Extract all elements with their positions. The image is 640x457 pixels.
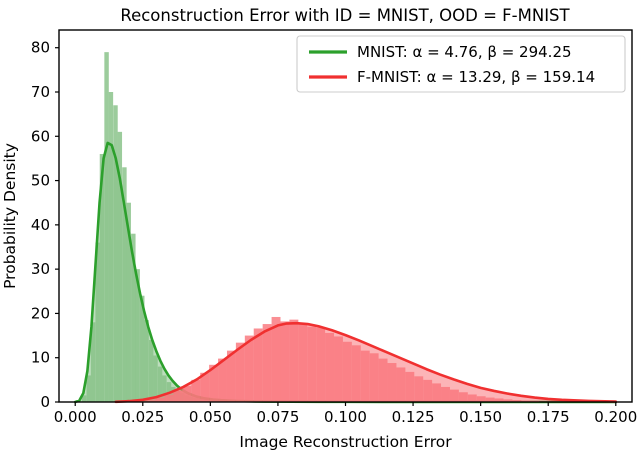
y-tick-label: 70	[31, 83, 50, 101]
x-axis-title: Image Reconstruction Error	[239, 433, 452, 451]
x-tick-label: 0.050	[189, 408, 232, 426]
legend-label-mnist[interactable]: MNIST: α = 4.76, β = 294.25	[357, 43, 572, 61]
y-tick-label: 60	[31, 127, 50, 145]
y-tick-label: 30	[31, 260, 50, 278]
y-tick-label: 40	[31, 216, 50, 234]
x-tick-label: 0.025	[121, 408, 164, 426]
x-tick-label: 0.175	[527, 408, 570, 426]
y-tick-label: 50	[31, 172, 50, 190]
x-tick-label: 0.150	[459, 408, 502, 426]
chart-legend[interactable]: MNIST: α = 4.76, β = 294.25F-MNIST: α = …	[297, 36, 625, 92]
y-axis-title: Probability Density	[1, 143, 19, 289]
chart-title: Reconstruction Error with ID = MNIST, OO…	[120, 6, 570, 25]
legend-label-f-mnist[interactable]: F-MNIST: α = 13.29, β = 159.14	[357, 68, 595, 86]
y-tick-label: 10	[31, 349, 50, 367]
x-tick-label: 0.100	[324, 408, 367, 426]
x-tick-label: 0.000	[54, 408, 97, 426]
x-tick-label: 0.200	[594, 408, 637, 426]
reconstruction-error-chart: 0.0000.0250.0500.0750.1000.1250.1500.175…	[0, 0, 640, 457]
x-tick-label: 0.075	[256, 408, 299, 426]
y-tick-label: 0	[40, 393, 50, 411]
x-tick-label: 0.125	[392, 408, 435, 426]
figure-container: 0.0000.0250.0500.0750.1000.1250.1500.175…	[0, 0, 640, 457]
y-tick-label: 20	[31, 304, 50, 322]
y-tick-label: 80	[31, 39, 50, 57]
